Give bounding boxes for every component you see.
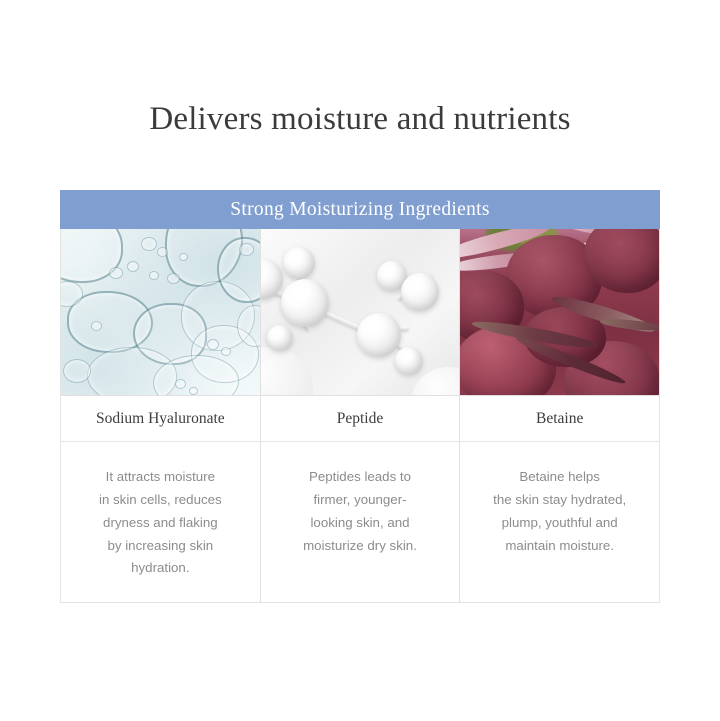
ingredient-name: Peptide bbox=[261, 396, 460, 442]
ingredient-name: Sodium Hyaluronate bbox=[61, 396, 260, 442]
ingredient-table: Strong Moisturizing Ingredients bbox=[60, 190, 660, 603]
ingredient-image-cell bbox=[460, 229, 659, 396]
ingredient-description: Peptides leads to firmer, younger- looki… bbox=[261, 442, 460, 602]
ingredient-name: Betaine bbox=[460, 396, 659, 442]
table-header-label: Strong Moisturizing Ingredients bbox=[230, 199, 490, 221]
ingredient-description: Betaine helps the skin stay hydrated, pl… bbox=[460, 442, 659, 602]
ingredient-column-sodium-hyaluronate: Sodium Hyaluronate It attracts moisture … bbox=[61, 229, 261, 602]
ingredient-description: It attracts moisture in skin cells, redu… bbox=[61, 442, 260, 602]
ingredient-image-cell bbox=[261, 229, 460, 396]
product-info-page: Delivers moisture and nutrients Strong M… bbox=[0, 0, 720, 721]
ingredient-column-peptide: Peptide Peptides leads to firmer, younge… bbox=[261, 229, 461, 602]
ingredient-column-betaine: Betaine Betaine helps the skin stay hydr… bbox=[460, 229, 659, 602]
molecule-model-icon bbox=[261, 229, 460, 395]
water-bubbles-icon bbox=[61, 229, 260, 395]
ingredient-image-cell bbox=[61, 229, 260, 396]
page-title: Delivers moisture and nutrients bbox=[0, 100, 720, 140]
table-header-banner: Strong Moisturizing Ingredients bbox=[60, 190, 660, 229]
table-body: Sodium Hyaluronate It attracts moisture … bbox=[60, 229, 660, 603]
beetroot-icon bbox=[460, 229, 659, 395]
